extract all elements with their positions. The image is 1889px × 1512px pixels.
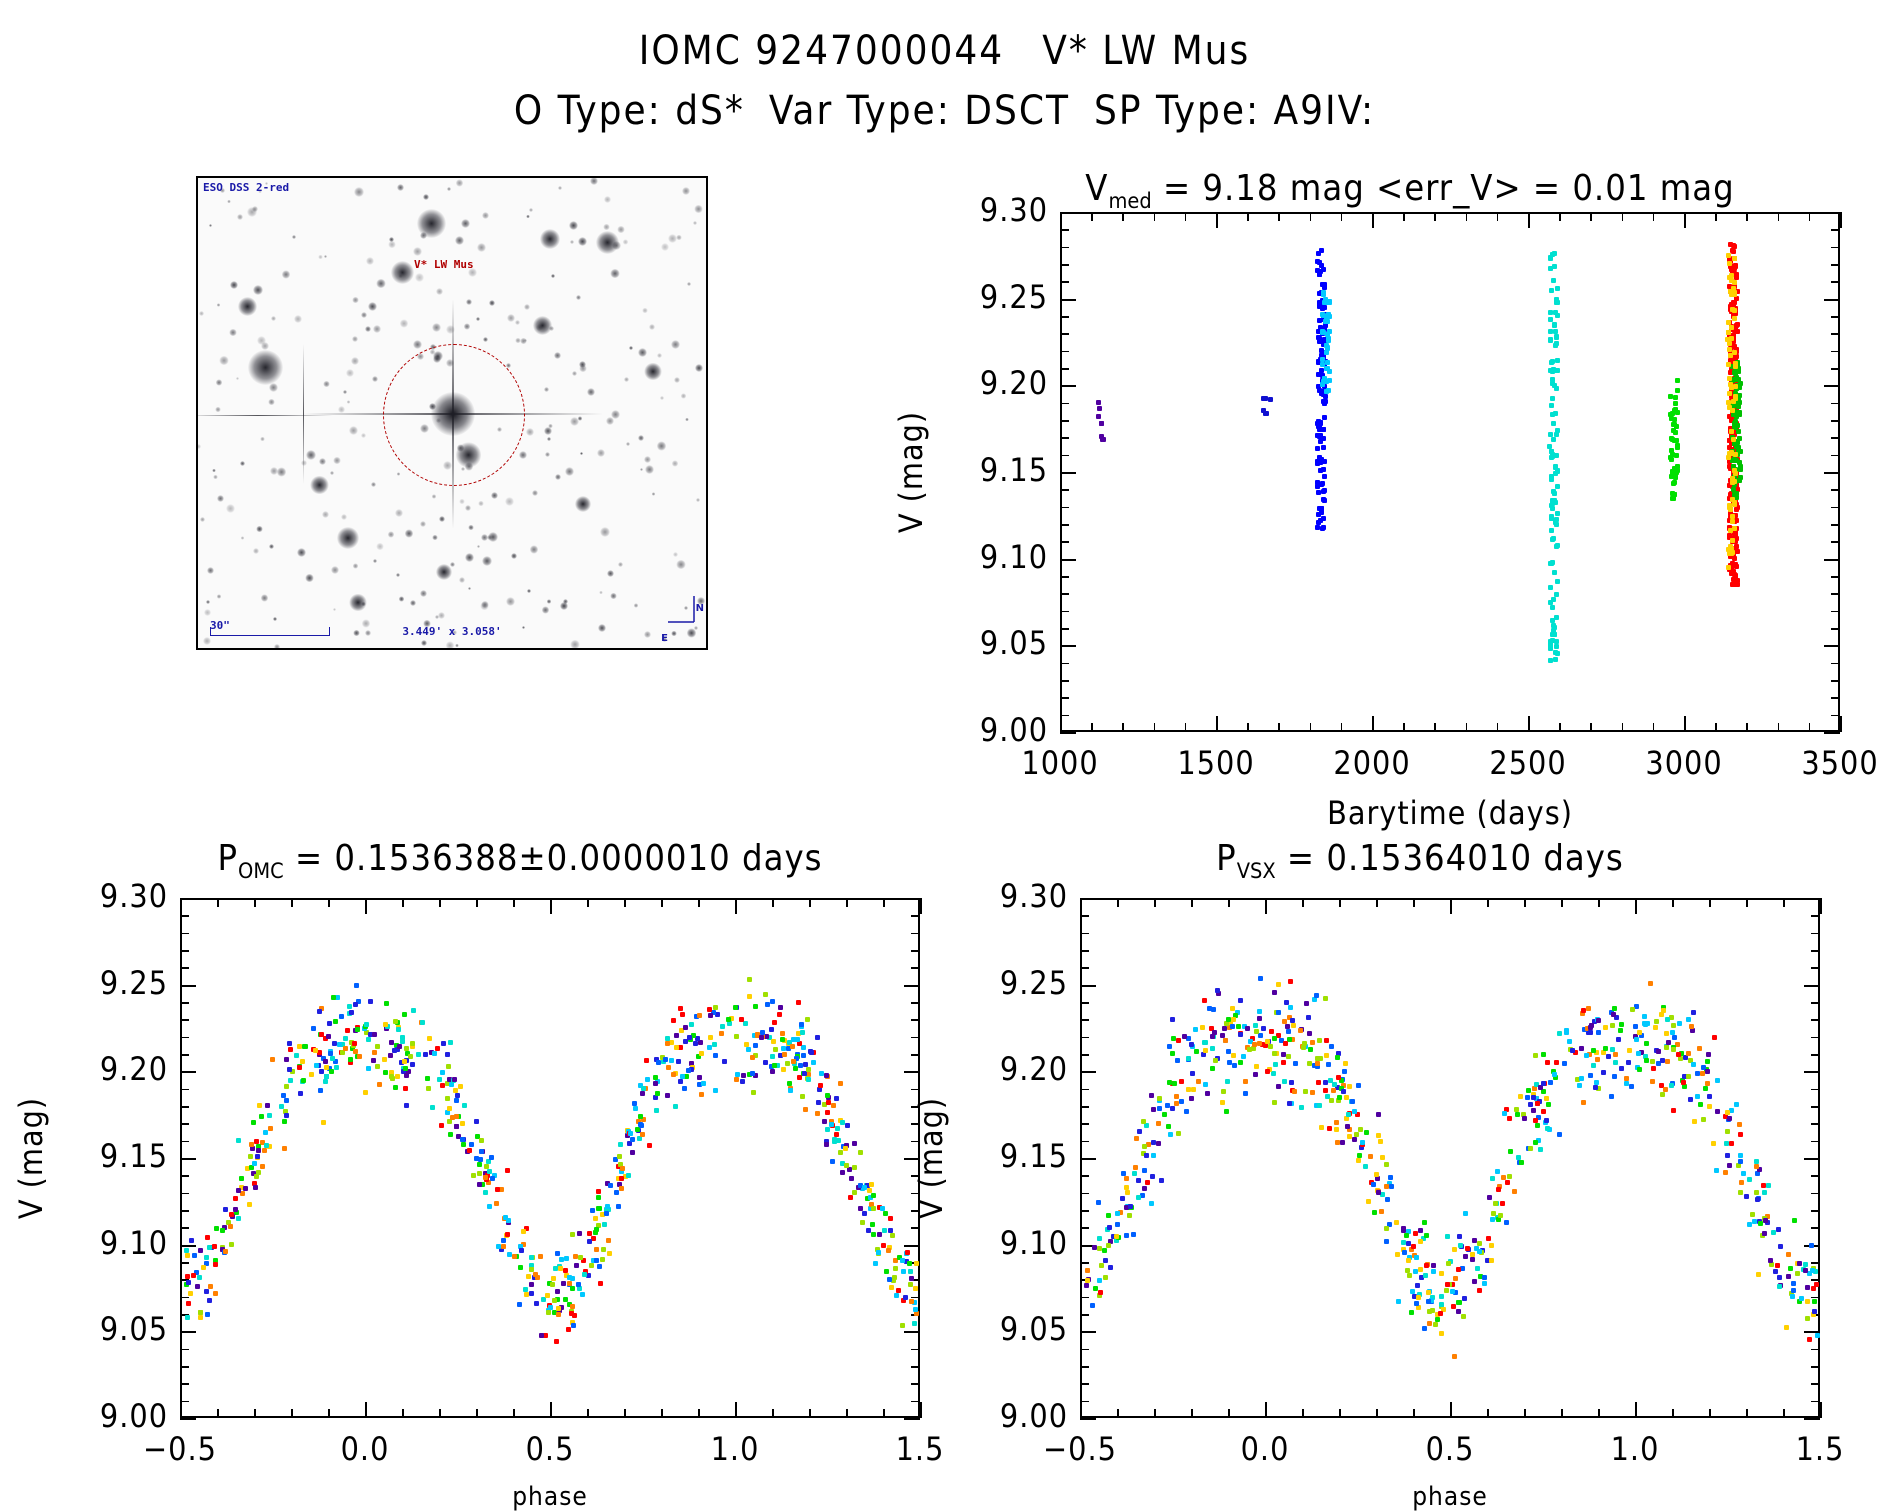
data-point: [1797, 1261, 1802, 1266]
axis-tick: [1824, 385, 1840, 387]
data-point: [353, 1002, 358, 1007]
data-point: [313, 1048, 318, 1053]
data-point: [223, 1249, 228, 1254]
plot-frame: [1080, 898, 1820, 1418]
axis-tick: [1080, 1418, 1096, 1420]
data-point: [377, 1082, 382, 1087]
data-point: [393, 1085, 398, 1090]
axis-tick: [1831, 715, 1840, 717]
data-point: [1150, 1174, 1155, 1179]
axis-tick: [911, 933, 920, 935]
axis-tick: [1831, 333, 1840, 335]
data-point: [838, 1081, 843, 1086]
data-point: [188, 1291, 193, 1296]
data-point: [1726, 330, 1731, 335]
axis-tick: [1672, 898, 1674, 907]
data-point: [1276, 1084, 1281, 1089]
data-point: [1318, 439, 1323, 444]
data-point: [1512, 1189, 1517, 1194]
star-glyph: [542, 606, 549, 613]
data-point: [1515, 1112, 1520, 1117]
star-glyph: [480, 602, 488, 610]
data-point: [1688, 1097, 1693, 1102]
data-point: [1238, 1032, 1243, 1037]
data-point: [1557, 1132, 1562, 1137]
data-point: [803, 1107, 808, 1112]
data-point: [1812, 1309, 1817, 1314]
data-point: [1519, 1160, 1524, 1165]
y-tick-label: 9.30: [948, 877, 1068, 915]
axis-tick: [1117, 898, 1119, 907]
survey-label: ESO DSS 2-red: [203, 181, 289, 194]
data-point: [353, 1049, 358, 1054]
data-point: [1579, 1076, 1584, 1081]
star-glyph: [353, 630, 359, 636]
data-point: [319, 1069, 324, 1074]
star-glyph: [532, 490, 538, 496]
data-point: [580, 1292, 585, 1297]
data-point: [1285, 1024, 1290, 1029]
data-point: [256, 1148, 261, 1153]
data-point: [1555, 484, 1560, 489]
data-point: [1175, 1058, 1180, 1063]
data-point: [1732, 502, 1737, 507]
axis-tick: [1590, 212, 1592, 221]
star-glyph: [547, 437, 551, 441]
data-point: [1326, 388, 1331, 393]
star-glyph: [590, 177, 599, 186]
data-point: [512, 1254, 517, 1259]
data-point: [1357, 1153, 1362, 1158]
data-point: [858, 1150, 863, 1155]
star-glyph: [373, 325, 381, 333]
data-point: [534, 1301, 539, 1306]
star-glyph: [575, 496, 591, 512]
data-point: [348, 1057, 353, 1062]
data-point: [1317, 336, 1322, 341]
data-point: [1591, 1048, 1596, 1053]
data-point: [1675, 378, 1680, 383]
data-point: [638, 1122, 643, 1127]
data-point: [1555, 286, 1560, 291]
data-point: [1549, 403, 1554, 408]
axis-tick: [1080, 1089, 1089, 1091]
star-glyph: [695, 364, 704, 373]
diffraction-spike: [303, 344, 304, 484]
star-glyph: [292, 235, 296, 239]
data-point: [1545, 1060, 1550, 1065]
data-point: [1315, 446, 1320, 451]
star-glyph: [319, 458, 326, 465]
star-glyph: [617, 226, 625, 234]
data-point: [1629, 1084, 1634, 1089]
axis-tick: [846, 898, 848, 907]
data-point: [1596, 1018, 1601, 1023]
data-point: [781, 1046, 786, 1051]
data-point: [1321, 292, 1326, 297]
star-glyph: [563, 599, 567, 603]
star-name: V* LW Mus: [1042, 28, 1250, 74]
data-point: [1554, 615, 1559, 620]
axis-tick: [180, 1123, 189, 1125]
star-glyph: [436, 288, 443, 295]
axis-tick: [1060, 628, 1069, 630]
axis-tick: [1811, 1366, 1820, 1368]
axis-tick: [1811, 915, 1820, 917]
star-glyph: [511, 553, 517, 559]
data-point: [1439, 1294, 1444, 1299]
axis-tick: [180, 1366, 189, 1368]
star-glyph: [338, 406, 345, 413]
axis-tick: [1060, 385, 1076, 387]
axis-tick: [1060, 368, 1069, 370]
data-point: [741, 1073, 746, 1078]
data-point: [777, 1012, 782, 1017]
data-point: [635, 1127, 640, 1132]
data-point: [1149, 1093, 1154, 1098]
axis-tick: [402, 1409, 404, 1418]
data-point: [440, 1070, 445, 1075]
data-point: [364, 1022, 369, 1027]
data-point: [671, 1018, 676, 1023]
star-glyph: [227, 200, 230, 203]
data-point: [487, 1204, 492, 1209]
data-point: [708, 1013, 713, 1018]
axis-tick: [254, 1409, 256, 1418]
data-point: [1321, 497, 1326, 502]
star-glyph: [203, 637, 211, 645]
data-point: [1354, 1132, 1359, 1137]
data-point: [683, 1025, 688, 1030]
data-point: [213, 1262, 218, 1267]
data-point: [1321, 467, 1326, 472]
data-point: [587, 1231, 592, 1236]
y-tick-label: 9.00: [928, 711, 1048, 749]
data-point: [1726, 253, 1731, 258]
data-point: [883, 1211, 888, 1216]
data-point: [1414, 1255, 1419, 1260]
axis-tick: [1080, 1401, 1089, 1403]
sp-type-value: A9IV:: [1274, 88, 1376, 134]
axis-tick: [1060, 524, 1069, 526]
data-point: [1673, 395, 1678, 400]
data-point: [785, 1061, 790, 1066]
axis-tick: [1060, 299, 1076, 301]
star-glyph: [376, 279, 385, 288]
data-point: [1299, 1105, 1304, 1110]
data-point: [263, 1130, 268, 1135]
var-type-label: Var Type:: [769, 88, 951, 134]
data-point: [1630, 1007, 1635, 1012]
y-tick-label: 9.25: [948, 964, 1068, 1002]
axis-tick: [180, 933, 189, 935]
data-point: [1194, 1049, 1199, 1054]
star-glyph: [361, 433, 366, 438]
data-point: [546, 1310, 551, 1315]
data-point: [1431, 1263, 1436, 1268]
axis-tick: [1684, 212, 1686, 228]
star-glyph: [673, 552, 678, 557]
data-point: [1648, 981, 1653, 986]
star-glyph: [318, 255, 322, 259]
data-point: [1701, 1117, 1706, 1122]
star-glyph: [676, 235, 681, 240]
data-point: [877, 1232, 882, 1237]
data-point: [1220, 1100, 1225, 1105]
data-point: [1732, 256, 1737, 261]
data-point: [1342, 1069, 1347, 1074]
data-point: [630, 1150, 635, 1155]
data-point: [1501, 1175, 1506, 1180]
data-point: [1766, 1183, 1771, 1188]
axis-tick: [1559, 723, 1561, 732]
data-point: [852, 1165, 857, 1170]
star-glyph: [645, 465, 654, 474]
data-point: [1486, 1236, 1491, 1241]
data-point: [1322, 305, 1327, 310]
star-glyph: [570, 240, 574, 244]
data-point: [1533, 1053, 1538, 1058]
y-tick-label: 9.20: [928, 364, 1048, 402]
star-glyph: [634, 603, 639, 608]
data-point: [267, 1113, 272, 1118]
data-point: [569, 1311, 574, 1316]
data-point: [1316, 251, 1321, 256]
data-point: [1736, 445, 1741, 450]
data-point: [236, 1138, 241, 1143]
data-point: [870, 1222, 875, 1227]
data-point: [772, 1063, 777, 1068]
data-point: [1281, 1060, 1286, 1065]
axis-tick: [846, 1409, 848, 1418]
data-point: [1085, 1278, 1090, 1283]
star-glyph: [570, 640, 579, 649]
data-point: [329, 1069, 334, 1074]
axis-tick: [1339, 898, 1341, 907]
data-point: [1335, 1140, 1340, 1145]
axis-tick: [587, 1409, 589, 1418]
data-point: [1596, 1030, 1601, 1035]
data-point: [1636, 1051, 1641, 1056]
star-glyph: [282, 270, 290, 278]
data-point: [501, 1238, 506, 1243]
star-glyph: [236, 377, 239, 380]
data-point: [539, 1333, 544, 1338]
data-point: [1579, 1046, 1584, 1051]
star-glyph: [331, 566, 339, 574]
y-tick-label: 9.25: [48, 964, 168, 1002]
data-point: [620, 1166, 625, 1171]
star-glyph: [526, 215, 529, 218]
axis-tick: [180, 1141, 189, 1143]
data-point: [1465, 1246, 1470, 1251]
axis-tick: [1080, 915, 1089, 917]
data-point: [335, 995, 340, 1000]
data-point: [1533, 1118, 1538, 1123]
star-glyph: [461, 219, 470, 228]
data-point: [1099, 1263, 1104, 1268]
data-point: [383, 1022, 388, 1027]
axis-tick: [1811, 1141, 1820, 1143]
star-glyph: [572, 371, 577, 376]
data-point: [1098, 1290, 1103, 1295]
data-point: [1522, 1116, 1527, 1121]
data-point: [321, 1120, 326, 1125]
data-point: [1776, 1227, 1781, 1232]
star-glyph: [362, 619, 371, 628]
data-point: [1705, 1059, 1710, 1064]
data-point: [680, 1012, 685, 1017]
star-glyph: [413, 340, 423, 350]
data-point: [1128, 1204, 1133, 1209]
data-point: [644, 1058, 649, 1063]
x-tick-label: 3500: [1780, 744, 1889, 782]
data-point: [848, 1195, 853, 1200]
y-tick-label: 9.05: [48, 1310, 168, 1348]
catalog-id: IOMC 9247000044: [639, 28, 1004, 74]
axis-tick: [1524, 898, 1526, 907]
data-point: [1343, 1061, 1348, 1066]
data-point: [389, 1040, 394, 1045]
star-glyph: [551, 274, 555, 278]
axis-tick: [328, 1409, 330, 1418]
data-point: [1322, 459, 1327, 464]
data-point: [1545, 1126, 1550, 1131]
data-point: [1734, 536, 1739, 541]
data-point: [1380, 1155, 1385, 1160]
data-point: [1555, 543, 1560, 548]
data-point: [577, 1231, 582, 1236]
data-point: [1316, 512, 1321, 517]
star-glyph: [468, 525, 473, 530]
data-point: [834, 1096, 839, 1101]
data-point: [1737, 1122, 1742, 1127]
axis-tick: [1622, 212, 1624, 221]
data-point: [570, 1286, 575, 1291]
data-point: [477, 1182, 482, 1187]
star-glyph: [610, 593, 616, 599]
data-point: [1541, 1052, 1546, 1057]
data-point: [366, 1066, 371, 1071]
field-of-view-label: 3.449' x 3.058': [402, 625, 501, 638]
x-tick-label: −0.5: [120, 1430, 240, 1468]
data-point: [371, 1058, 376, 1063]
axis-tick: [1831, 541, 1840, 543]
axis-tick: [1811, 1002, 1820, 1004]
data-point: [1184, 1109, 1189, 1114]
star-glyph: [353, 563, 359, 569]
star-glyph: [446, 641, 454, 649]
star-glyph: [371, 482, 376, 487]
data-point: [843, 1146, 848, 1151]
data-point: [578, 1255, 583, 1260]
star-glyph: [388, 531, 395, 538]
data-point: [1423, 1273, 1428, 1278]
data-point: [712, 1042, 717, 1047]
data-point: [506, 1218, 511, 1223]
data-point: [1619, 1066, 1624, 1071]
axis-tick: [1060, 403, 1069, 405]
y-tick-label: 9.10: [48, 1224, 168, 1262]
data-point: [1500, 1201, 1505, 1206]
data-point: [1548, 585, 1553, 590]
data-point: [1686, 1074, 1691, 1079]
data-point: [1439, 1302, 1444, 1307]
data-point: [840, 1120, 845, 1125]
data-point: [1317, 1103, 1322, 1108]
data-point: [788, 1088, 793, 1093]
data-point: [1323, 319, 1328, 324]
axis-tick: [1080, 1210, 1089, 1212]
axis-tick: [180, 1245, 196, 1247]
data-point: [1477, 1241, 1482, 1246]
data-point: [1732, 468, 1737, 473]
data-point: [1726, 362, 1731, 367]
data-point: [1550, 498, 1555, 503]
data-point: [654, 1108, 659, 1113]
data-point: [1541, 1109, 1546, 1114]
scale-bar: [210, 635, 330, 636]
data-point: [1431, 1269, 1436, 1274]
data-point: [1712, 1035, 1717, 1040]
pomc-period-error: 0.0000010: [547, 838, 731, 879]
star-glyph: [642, 308, 647, 313]
star-glyph: [415, 273, 424, 282]
star-glyph: [506, 597, 516, 607]
data-point: [571, 1323, 576, 1328]
axis-tick: [1746, 212, 1748, 221]
data-point: [769, 1027, 774, 1032]
star-glyph: [640, 468, 643, 471]
axis-tick: [1080, 1366, 1089, 1368]
data-point: [1344, 1095, 1349, 1100]
data-point: [440, 1083, 445, 1088]
data-point: [260, 1164, 265, 1169]
data-point: [186, 1280, 191, 1285]
data-point: [1372, 1210, 1377, 1215]
data-point: [1737, 393, 1742, 398]
target-marker-circle: [383, 344, 525, 486]
star-glyph: [420, 590, 427, 597]
data-point: [574, 1263, 579, 1268]
axis-tick: [883, 1409, 885, 1418]
data-point: [1673, 401, 1678, 406]
data-point: [1276, 982, 1281, 987]
data-point: [1730, 519, 1735, 524]
data-point: [1151, 1153, 1156, 1158]
axis-tick: [1216, 212, 1218, 228]
data-point: [1282, 1079, 1287, 1084]
data-point: [674, 1045, 679, 1050]
data-point: [1535, 1123, 1540, 1128]
data-point: [1407, 1273, 1412, 1278]
data-point: [1470, 1252, 1475, 1257]
data-point: [1137, 1129, 1142, 1134]
target-name-label: V* LW Mus: [414, 258, 474, 271]
star-glyph: [522, 626, 525, 629]
data-point: [795, 1037, 800, 1042]
star-glyph: [599, 591, 603, 595]
data-point: [1737, 412, 1742, 417]
axis-tick: [1434, 212, 1436, 221]
y-tick-label: 9.30: [928, 191, 1048, 229]
axis-tick: [1080, 967, 1089, 969]
data-point: [257, 1103, 262, 1108]
data-point: [1550, 359, 1555, 364]
data-point: [317, 1009, 322, 1014]
data-point: [1096, 1200, 1101, 1205]
data-point: [1729, 1141, 1734, 1146]
